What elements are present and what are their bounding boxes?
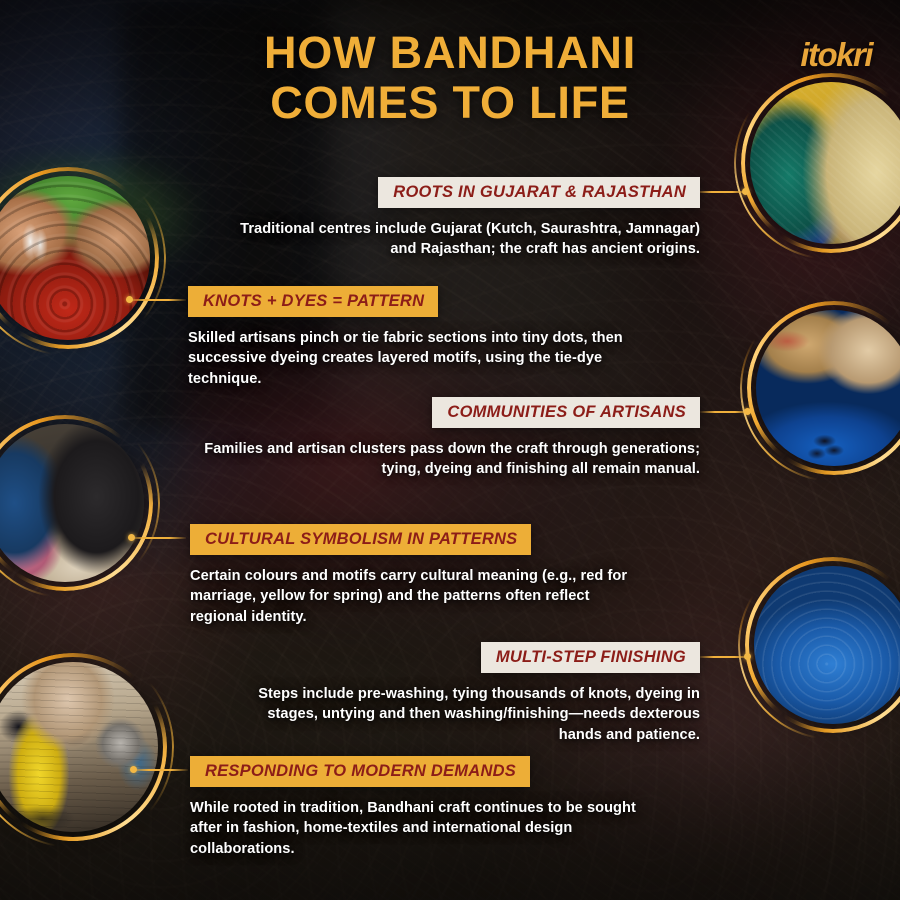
section-communities-of-artisans: COMMUNITIES OF ARTISANS Families and art…: [200, 397, 700, 480]
brand-logo[interactable]: itokri: [800, 36, 872, 74]
infographic-poster: HOW BANDHANI COMES TO LIFE itokri: [0, 0, 900, 900]
connector-node-3: [744, 408, 751, 415]
photo-women-untying-cloth-image: [0, 424, 144, 582]
connector-line-2: [128, 299, 186, 301]
section-body-knots-dyes-pattern: Skilled artisans pinch or tie fabric sec…: [188, 328, 638, 388]
connector-node-1: [742, 188, 749, 195]
section-heading-responding-to-modern-demands[interactable]: RESPONDING TO MODERN DEMANDS: [190, 756, 530, 787]
photo-hands-tying-red-fabric-image: [0, 176, 150, 340]
connector-line-1: [696, 191, 748, 193]
connector-line-3: [700, 411, 750, 413]
section-heading-roots-in-gujarat-rajasthan[interactable]: ROOTS IN GUJARAT & RAJASTHAN: [378, 177, 700, 208]
section-body-responding-to-modern-demands: While rooted in tradition, Bandhani craf…: [190, 798, 650, 858]
section-responding-to-modern-demands: RESPONDING TO MODERN DEMANDS While roote…: [190, 756, 650, 859]
section-heading-multi-step-finishing[interactable]: MULTI-STEP FINISHING: [481, 642, 700, 673]
connector-node-4: [128, 534, 135, 541]
section-heading-cultural-symbolism-in-patterns[interactable]: CULTURAL SYMBOLISM IN PATTERNS: [190, 524, 531, 555]
photo-fabric-bundles-blue-dye: [754, 566, 900, 724]
section-roots-in-gujarat-rajasthan: ROOTS IN GUJARAT & RAJASTHAN Traditional…: [240, 177, 700, 260]
section-body-roots-in-gujarat-rajasthan: Traditional centres include Gujarat (Kut…: [240, 219, 700, 259]
connector-line-5: [698, 656, 750, 658]
connector-node-2: [126, 296, 133, 303]
connector-line-6: [132, 769, 188, 771]
connector-node-6: [130, 766, 137, 773]
section-cultural-symbolism-in-patterns: CULTURAL SYMBOLISM IN PATTERNS Certain c…: [190, 524, 640, 627]
photo-hands-tying-red-fabric: [0, 176, 150, 340]
page-title-line-1: HOW BANDHANI: [264, 27, 636, 78]
photo-dyer-blue-vat-image: [756, 310, 900, 466]
connector-line-4: [130, 537, 186, 539]
page-title-line-2: COMES TO LIFE: [0, 78, 900, 128]
connector-node-5: [744, 653, 751, 660]
photo-man-lifting-yellow-cloth: [0, 662, 158, 832]
section-body-communities-of-artisans: Families and artisan clusters pass down …: [200, 439, 700, 479]
section-knots-dyes-pattern: KNOTS + DYES = PATTERN Skilled artisans …: [188, 286, 638, 389]
photo-man-lifting-yellow-cloth-image: [0, 662, 158, 832]
section-body-multi-step-finishing: Steps include pre-washing, tying thousan…: [250, 684, 700, 744]
page-title: HOW BANDHANI COMES TO LIFE: [0, 28, 900, 129]
photo-fabric-bundles-blue-dye-image: [754, 566, 900, 724]
section-heading-knots-dyes-pattern[interactable]: KNOTS + DYES = PATTERN: [188, 286, 438, 317]
photo-dyer-blue-vat: [756, 310, 900, 466]
section-multi-step-finishing: MULTI-STEP FINISHING Steps include pre-w…: [250, 642, 700, 745]
section-heading-communities-of-artisans[interactable]: COMMUNITIES OF ARTISANS: [432, 397, 700, 428]
photo-women-untying-cloth: [0, 424, 144, 582]
section-body-cultural-symbolism-in-patterns: Certain colours and motifs carry cultura…: [190, 566, 640, 626]
